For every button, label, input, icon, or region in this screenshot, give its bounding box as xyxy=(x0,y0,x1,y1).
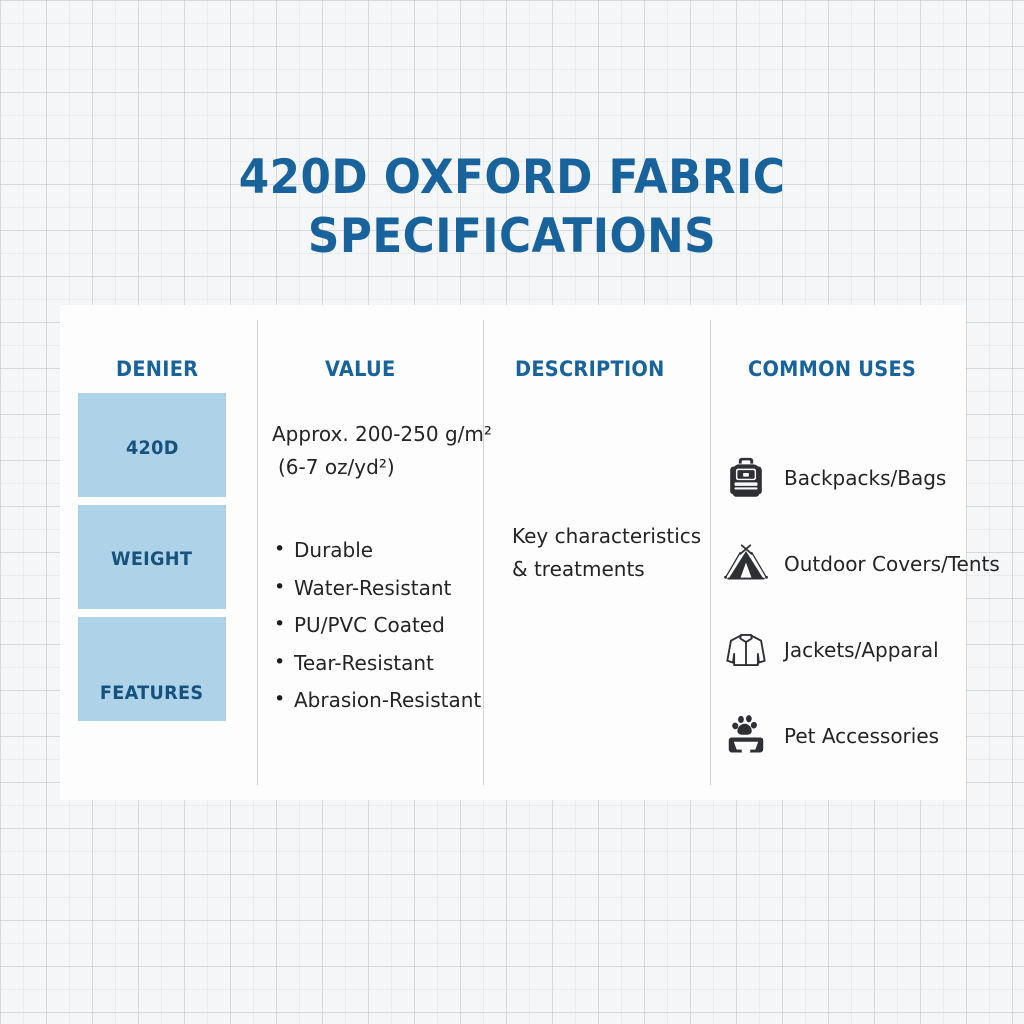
page-title-line-2: SPECIFICATIONS xyxy=(36,207,988,266)
common-use-label: Jackets/Apparal xyxy=(784,638,939,662)
list-item: Pet Accessories xyxy=(720,693,964,779)
column-header-value: VALUE xyxy=(325,357,395,381)
pet-bed-paw-icon xyxy=(720,710,772,762)
tent-icon xyxy=(720,538,772,590)
page-title: 420D OXFORD FABRIC SPECIFICATIONS xyxy=(0,148,1024,266)
value-features-list: Durable Water-Resistant PU/PVC Coated Te… xyxy=(272,532,504,720)
list-item: Durable xyxy=(272,532,504,570)
column-divider xyxy=(710,320,711,785)
column-divider xyxy=(257,320,258,785)
common-use-label: Outdoor Covers/Tents xyxy=(784,552,1000,576)
common-use-label: Pet Accessories xyxy=(784,724,939,748)
denier-block-label: FEATURES xyxy=(100,682,203,704)
specifications-card: DENIER VALUE DESCRIPTION COMMON USES 420… xyxy=(60,305,966,800)
value-weight-line-1: Approx. 200-250 g/m² xyxy=(272,422,492,446)
list-item: Backpacks/Bags xyxy=(720,435,964,521)
list-item: Jackets/Apparal xyxy=(720,607,964,693)
list-item: Abrasion-Resistant xyxy=(272,682,504,720)
value-weight-text: Approx. 200-250 g/m² (6-7 oz/yd²) xyxy=(272,418,502,484)
common-uses-list: Backpacks/Bags Outdoor Covers/Tents xyxy=(720,435,964,779)
page-title-line-1: 420D OXFORD FABRIC xyxy=(36,148,988,207)
denier-block-features: FEATURES xyxy=(78,617,226,721)
description-text: Key characteristics & treatments xyxy=(512,520,707,586)
list-item: Tear-Resistant xyxy=(272,645,504,683)
denier-block-weight: WEIGHT xyxy=(78,505,226,609)
denier-block-label: WEIGHT xyxy=(111,548,192,570)
jacket-icon xyxy=(720,624,772,676)
column-header-common-uses: COMMON USES xyxy=(748,357,916,381)
denier-block-label: 420D xyxy=(126,437,179,459)
column-header-denier: DENIER xyxy=(116,357,198,381)
value-weight-line-2: (6-7 oz/yd²) xyxy=(272,451,502,484)
common-use-label: Backpacks/Bags xyxy=(784,466,946,490)
column-header-description: DESCRIPTION xyxy=(515,357,665,381)
list-item: PU/PVC Coated xyxy=(272,607,504,645)
denier-block-420d: 420D xyxy=(78,393,226,497)
description-line-1: Key characteristics xyxy=(512,524,701,548)
list-item: Water-Resistant xyxy=(272,570,504,608)
list-item: Outdoor Covers/Tents xyxy=(720,521,964,607)
description-line-2: & treatments xyxy=(512,557,645,581)
backpack-icon xyxy=(720,452,772,504)
